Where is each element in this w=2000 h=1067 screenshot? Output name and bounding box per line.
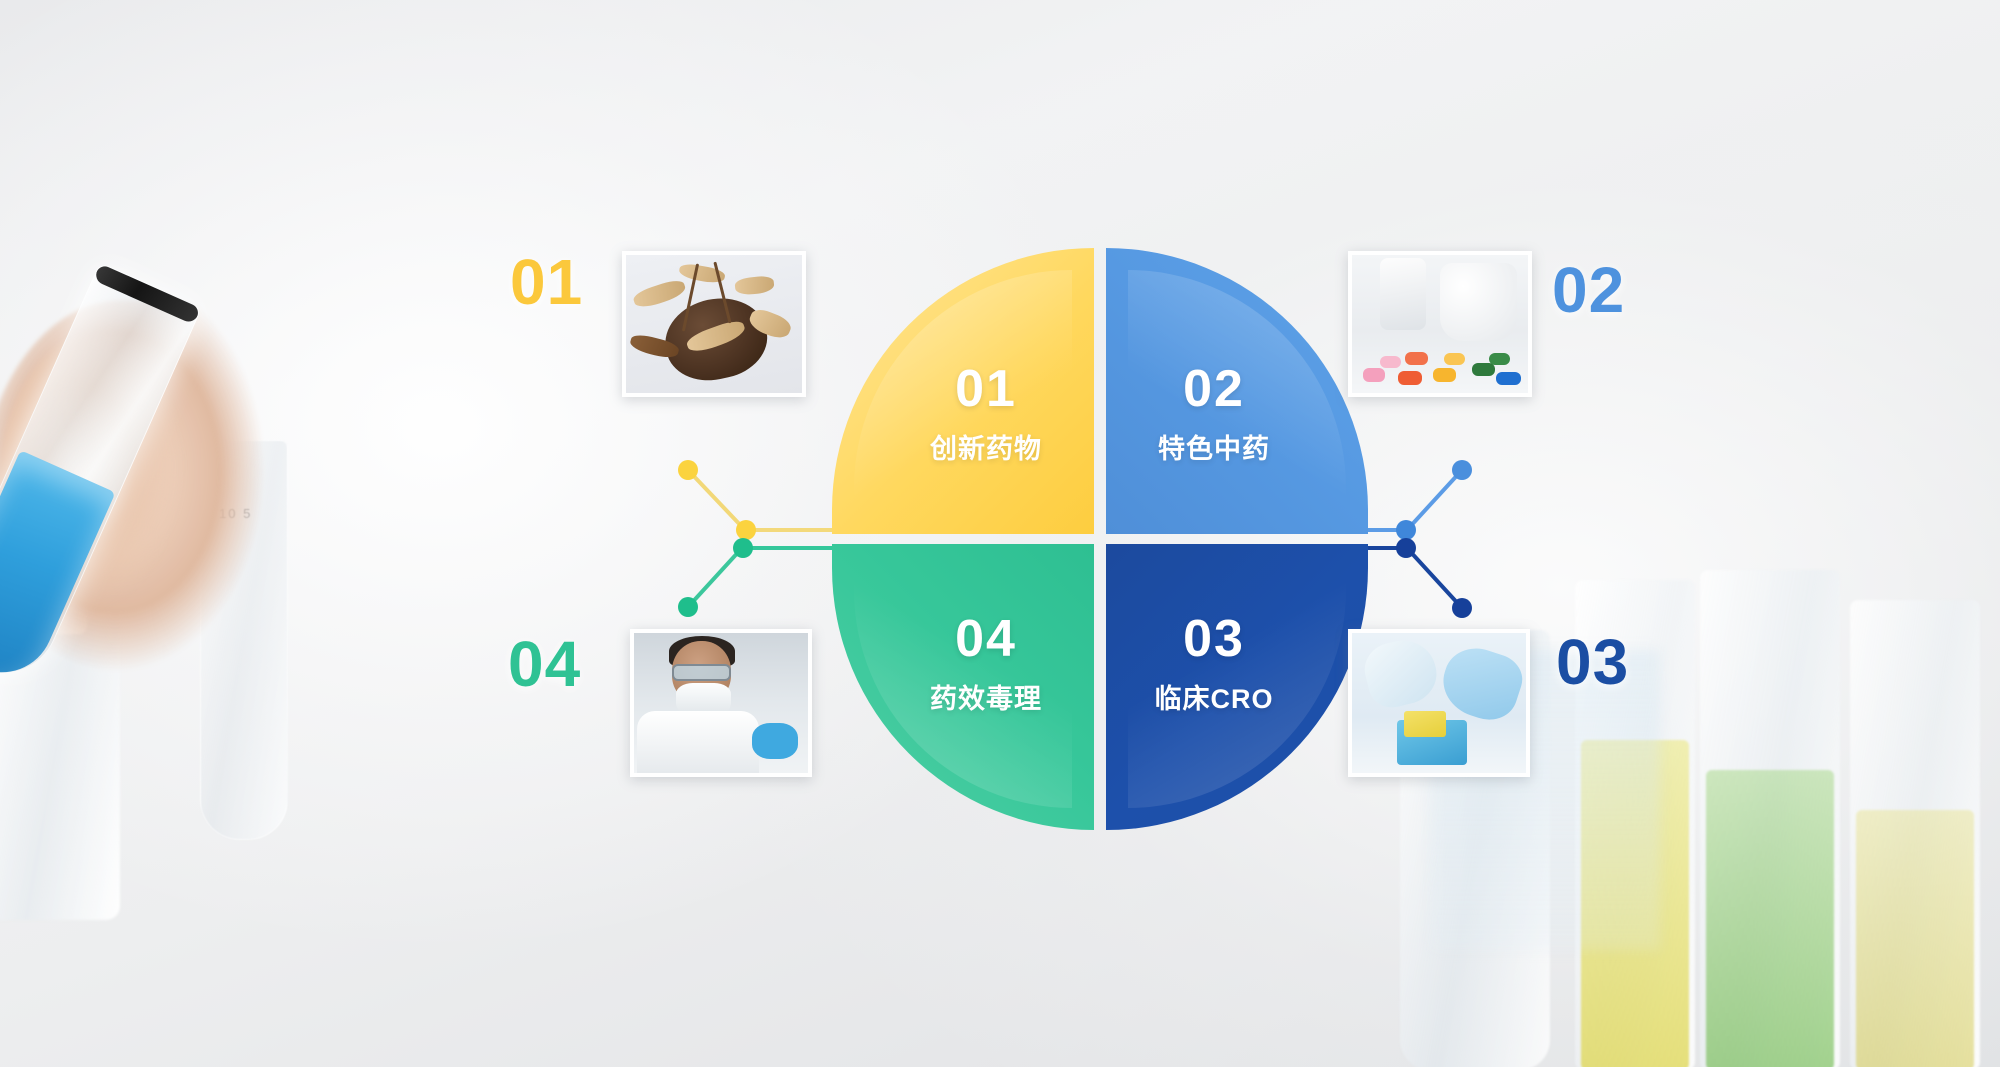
wheel-segment-01[interactable]: 01 创新药物 <box>832 248 1094 534</box>
tube-tick-marks: 10 5 <box>219 501 252 527</box>
clinical-glove-left <box>1359 634 1442 713</box>
wheel-segment-02[interactable]: 02 特色中药 <box>1106 248 1368 534</box>
background-test-tube-secondary: 10 5 <box>200 440 288 840</box>
thumbnail-herbs-image <box>626 255 802 393</box>
glass-fill-2 <box>1581 740 1689 1067</box>
segment-fill-04: 04 药效毒理 <box>832 544 1094 830</box>
researcher-labcoat <box>637 711 759 773</box>
wheel-segment-04[interactable]: 04 药效毒理 <box>832 544 1094 830</box>
glass-tube-4 <box>1850 600 1980 1067</box>
pill-yellow-2 <box>1444 353 1465 365</box>
tube-liquid <box>0 450 116 689</box>
outer-number-03: 03 <box>1556 625 1629 699</box>
segment-fill-01: 01 创新药物 <box>832 248 1094 534</box>
outer-number-01: 01 <box>510 245 583 319</box>
researcher-goggles <box>672 664 731 681</box>
tube-cap <box>93 262 202 325</box>
segment-content-01: 01 创新药物 <box>832 248 1094 534</box>
diagram-canvas: 10 5 <box>0 0 2000 1067</box>
pill-yellow <box>1433 368 1456 382</box>
clinical-glove-right <box>1434 640 1526 728</box>
segment-label-04: 药效毒理 <box>930 677 1042 716</box>
pill-bottle-front <box>1440 263 1517 340</box>
bottle-neck <box>13 594 87 634</box>
thumbnail-pills[interactable] <box>1348 251 1532 397</box>
background-fingers <box>0 330 210 630</box>
pill-blue <box>1496 372 1521 384</box>
segment-label-02: 特色中药 <box>1158 427 1270 466</box>
thumbnail-pills-image <box>1352 255 1528 393</box>
pill-bottle-back <box>1380 258 1426 330</box>
segment-label-03: 临床CRO <box>1155 677 1274 716</box>
segment-content-02: 02 特色中药 <box>1106 248 1368 534</box>
segment-fill-03: 03 临床CRO <box>1106 544 1368 830</box>
pill-green-2 <box>1489 353 1510 365</box>
wheel-segment-03[interactable]: 03 临床CRO <box>1106 544 1368 830</box>
pill-orange <box>1398 371 1423 385</box>
thumbnail-clinical-image <box>1352 633 1526 773</box>
clinical-sample <box>1404 711 1446 736</box>
pill-orange-2 <box>1405 352 1428 366</box>
segment-content-04: 04 药效毒理 <box>832 544 1094 830</box>
pill-green <box>1472 363 1495 377</box>
thumbnail-herbs[interactable] <box>622 251 806 397</box>
researcher-glove <box>752 723 797 759</box>
segment-number-01: 01 <box>955 362 1017 417</box>
pill-pink-2 <box>1380 356 1401 368</box>
background-hand <box>0 300 280 730</box>
glass-fill-4 <box>1856 810 1974 1067</box>
outer-number-02: 02 <box>1552 253 1625 327</box>
background-bottle-left <box>0 620 120 920</box>
segment-number-04: 04 <box>955 612 1017 667</box>
background-test-tube-blue <box>0 262 202 691</box>
segment-label-01: 创新药物 <box>930 427 1042 466</box>
segment-number-02: 02 <box>1183 362 1245 417</box>
thumbnail-lab-image <box>634 633 808 773</box>
center-wheel: 01 创新药物 02 特色中药 04 药效毒理 <box>832 248 1368 830</box>
glass-fill-3 <box>1706 770 1834 1067</box>
herb-root-1 <box>632 278 688 311</box>
thumbnail-lab-researcher[interactable] <box>630 629 812 777</box>
segment-fill-02: 02 特色中药 <box>1106 248 1368 534</box>
segment-content-03: 03 临床CRO <box>1106 544 1368 830</box>
herb-root-3 <box>734 275 774 296</box>
thumbnail-clinical[interactable] <box>1348 629 1530 777</box>
segment-number-03: 03 <box>1183 612 1245 667</box>
pill-pink <box>1363 368 1386 382</box>
glass-tube-3 <box>1700 570 1840 1067</box>
outer-number-04: 04 <box>508 627 581 701</box>
